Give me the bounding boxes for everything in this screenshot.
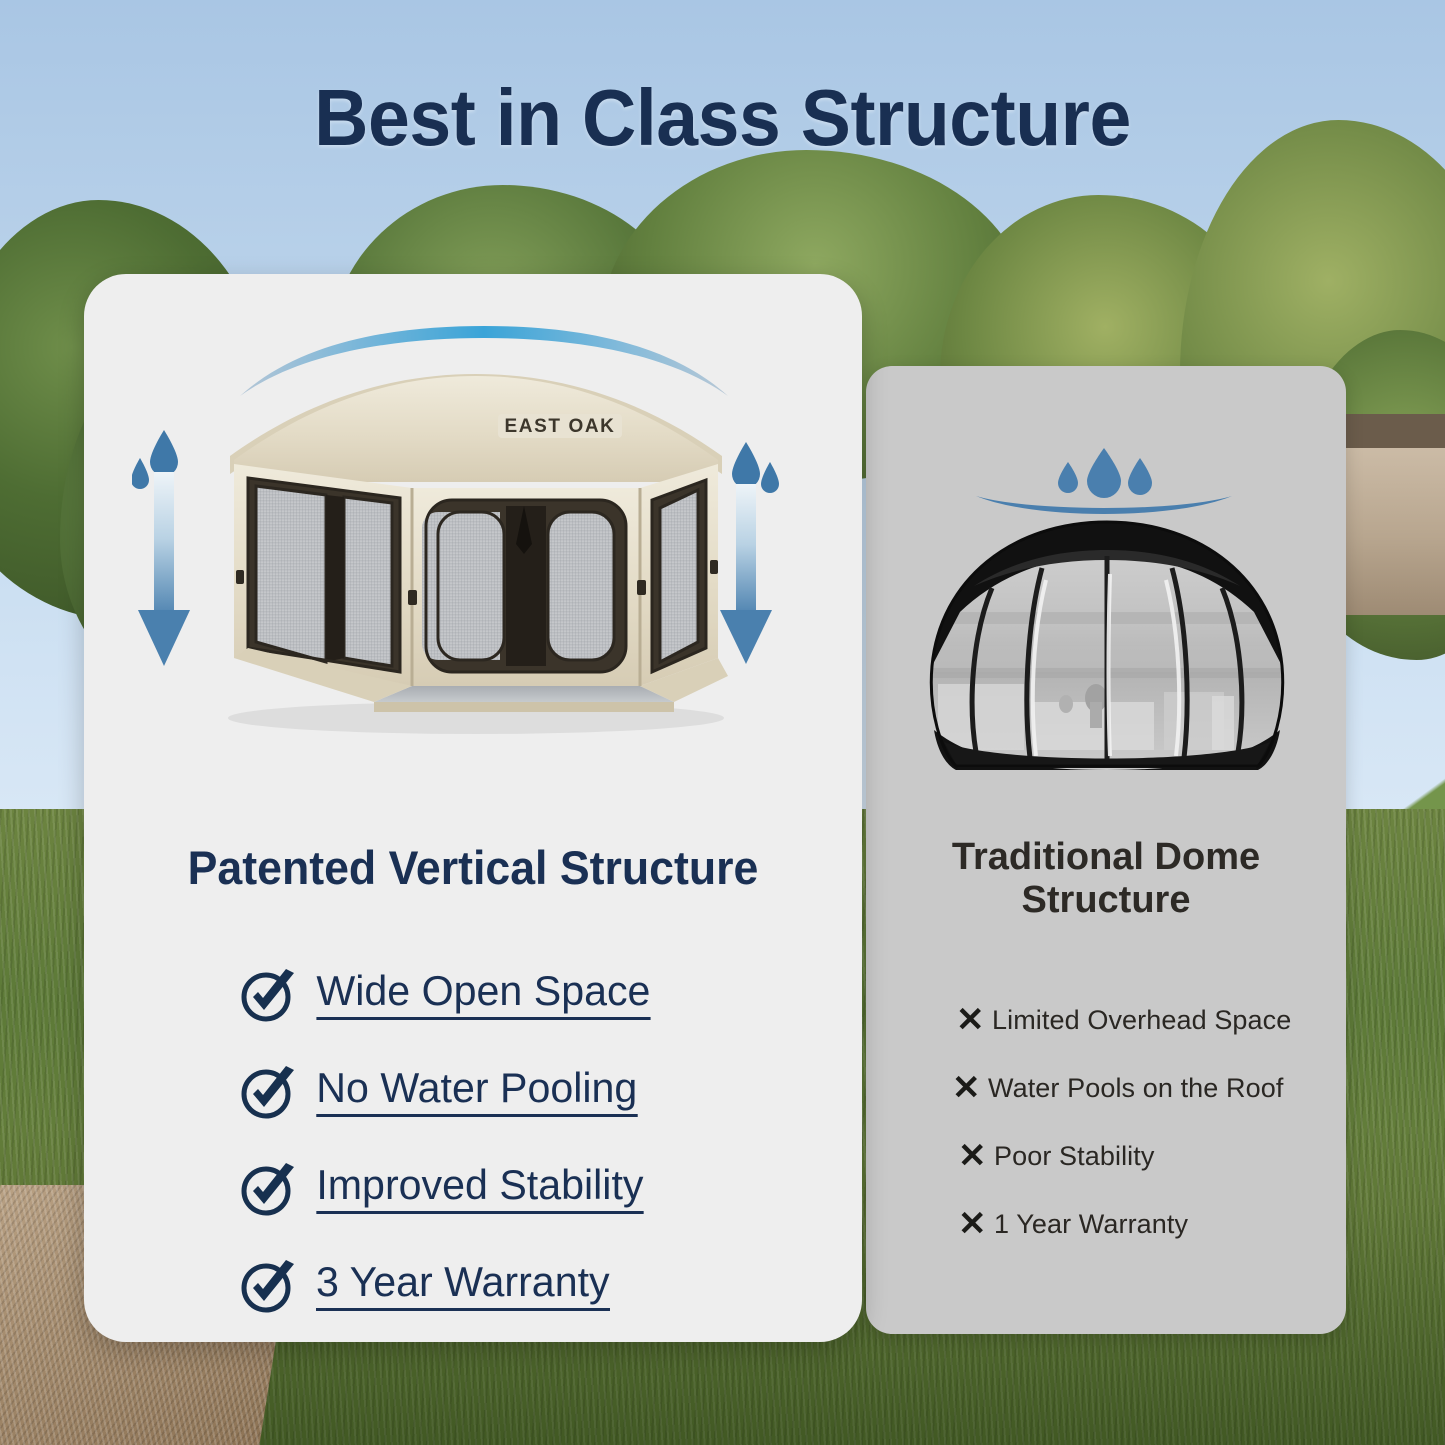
patented-structure-card: EAST OAK [84,274,862,1342]
drawbacks-list: ✕ Limited Overhead Space ✕ Water Pools o… [866,986,1346,1258]
dome-illustration [866,424,1346,780]
list-item-label: 1 Year Warranty [994,1209,1188,1240]
tent-illustration: EAST OAK [84,318,862,748]
list-item-label: No Water Pooling [316,1066,637,1117]
x-mark-icon: ✕ [952,1071,988,1105]
water-droplets-icon [954,446,1254,514]
list-item: 3 Year Warranty [84,1237,862,1334]
list-item: ✕ Water Pools on the Roof [866,1054,1346,1122]
list-item: ✕ Poor Stability [866,1122,1346,1190]
list-item-label: Poor Stability [994,1141,1154,1172]
list-item: Improved Stability [84,1140,862,1237]
check-circle-icon [239,965,299,1025]
list-item: ✕ Limited Overhead Space [866,986,1346,1054]
benefits-list: Wide Open Space No Water Pooling Improve… [84,946,862,1334]
list-item-label: Wide Open Space [316,969,650,1020]
check-circle-icon [239,1159,299,1219]
traditional-dome-card: Traditional Dome Structure ✕ Limited Ove… [866,366,1346,1334]
x-mark-icon: ✕ [958,1139,994,1173]
page-title: Best in Class Structure [43,72,1401,164]
list-item-label: 3 Year Warranty [316,1260,610,1311]
x-mark-icon: ✕ [958,1207,994,1241]
list-item: ✕ 1 Year Warranty [866,1190,1346,1258]
dome-tent-image [914,516,1300,778]
right-card-heading: Traditional Dome Structure [890,836,1322,921]
list-item-label: Water Pools on the Roof [988,1073,1283,1104]
vertical-structure-tent-image: EAST OAK [176,366,776,746]
list-item: No Water Pooling [84,1043,862,1140]
check-circle-icon [239,1256,299,1316]
x-mark-icon: ✕ [956,1003,992,1037]
left-card-heading: Patented Vertical Structure [103,840,842,895]
list-item-label: Limited Overhead Space [992,1005,1291,1036]
list-item: Wide Open Space [84,946,862,1043]
list-item-label: Improved Stability [316,1163,643,1214]
check-circle-icon [239,1062,299,1122]
brand-label-text: EAST OAK [505,416,616,437]
